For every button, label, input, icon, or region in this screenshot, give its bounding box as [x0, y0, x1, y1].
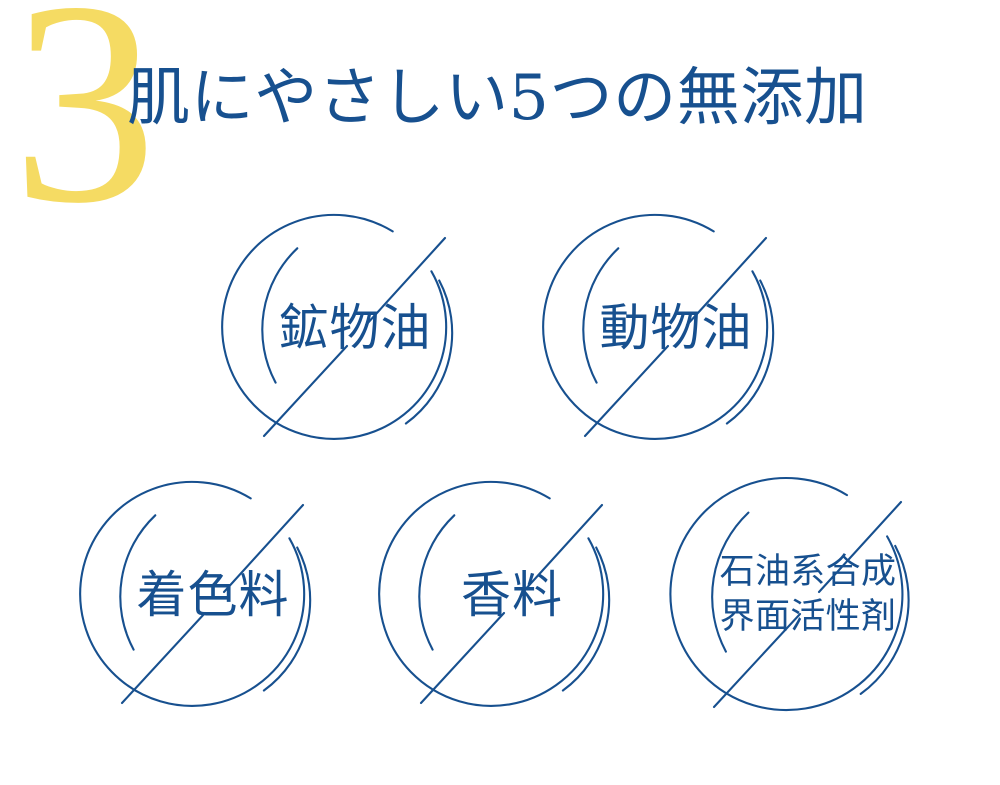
badge-label: 香料 [394, 477, 630, 713]
badge-label: 鉱物油 [237, 210, 473, 446]
badge-colorant: 着色料 [95, 477, 331, 713]
page-title: 肌にやさしい5つの無添加 [127, 66, 868, 129]
badge-mineral-oil: 鉱物油 [237, 210, 473, 446]
badge-label-line: 鉱物油 [279, 302, 432, 355]
badge-label: 石油系合成 界面活性剤 [686, 473, 930, 717]
badge-label: 着色料 [95, 477, 331, 713]
heading-area: 3 肌にやさしい5つの無添加 [0, 0, 1000, 200]
badge-label-line: 着色料 [137, 569, 290, 622]
badge-label-line: 動物油 [600, 302, 753, 355]
badge-fragrance: 香料 [394, 477, 630, 713]
badge-petroleum-surfactant: 石油系合成 界面活性剤 [686, 473, 930, 717]
badge-label-line: 界面活性剤 [720, 595, 897, 640]
free-of-five-additives-graphic: 3 肌にやさしい5つの無添加 鉱物油 [0, 0, 1000, 785]
badge-label-line: 香料 [461, 569, 563, 622]
badge-animal-oil: 動物油 [558, 210, 794, 446]
badge-label: 動物油 [558, 210, 794, 446]
badge-label-line: 石油系合成 [720, 550, 897, 595]
